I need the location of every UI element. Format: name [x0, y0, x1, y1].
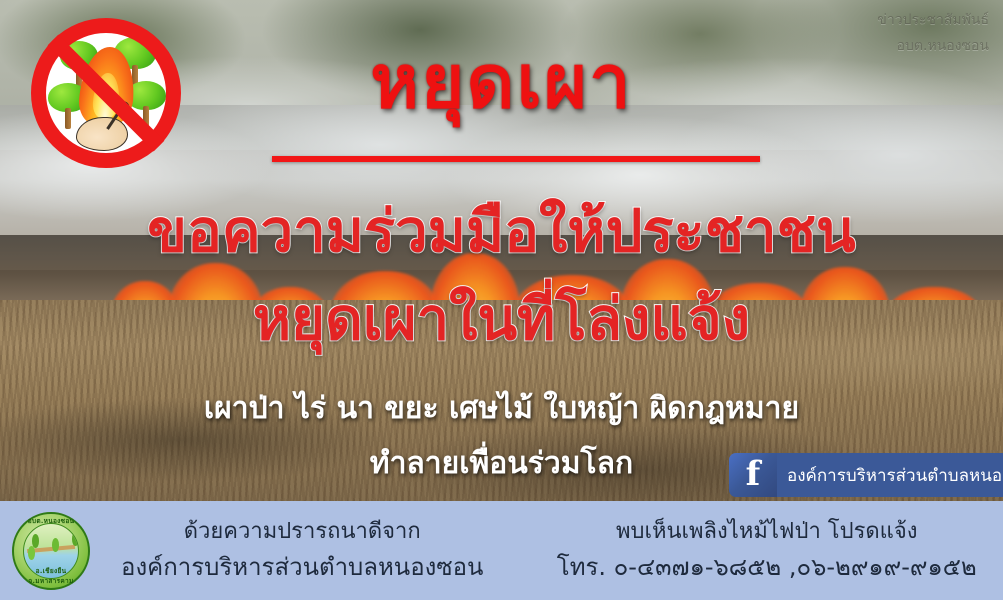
facebook-badge[interactable]: f องค์การบริหารส่วนตำบลหนองซอน — [729, 453, 1003, 497]
municipality-seal-icon: อบต.หนองซอน อ.เชียงยืน จ.มหาสารคาม — [12, 512, 90, 590]
footer-left-line-1: ด้วยความปรารถนาดีจาก — [90, 515, 515, 549]
divider — [272, 156, 760, 162]
announcement-poster: ข่าวประชาสัมพันธ์ อบต.หนองซอน หยุดเผา ขอ… — [0, 0, 1003, 600]
footer-left-block: ด้วยความปรารถนาดีจาก องค์การบริหารส่วนตำ… — [90, 515, 555, 586]
subtext-line-1: เผาป่า ไร่ นา ขยะ เศษไม้ ใบหญ้า ผิดกฎหมา… — [0, 385, 1003, 432]
facebook-page-name[interactable]: องค์การบริหารส่วนตำบลหนองซอน — [777, 453, 1003, 497]
facebook-icon-glyph: f — [729, 453, 777, 497]
facebook-icon[interactable]: f — [729, 453, 777, 497]
message-line-1: ขอความร่วมมือให้ประชาชน — [0, 184, 1003, 277]
seal-top-text: อบต.หนองซอน — [12, 516, 90, 526]
footer-phone-number: โทร. ๐-๔๓๗๑-๖๘๕๒ ,๐๖-๒๙๑๙-๙๑๕๒ — [555, 549, 980, 586]
footer-left-line-2: องค์การบริหารส่วนตำบลหนองซอน — [90, 549, 515, 586]
message-line-2: หยุดเผาในที่โล่งแจ้ง — [0, 272, 1003, 365]
footer-right-block: พบเห็นเพลิงไหม้ไฟป่า โปรดแจ้ง โทร. ๐-๔๓๗… — [555, 515, 1003, 586]
footer-right-line-1: พบเห็นเพลิงไหม้ไฟป่า โปรดแจ้ง — [555, 515, 980, 549]
footer-bar: อบต.หนองซอน อ.เชียงยืน จ.มหาสารคาม ด้วยค… — [0, 501, 1003, 600]
seal-bottom-text: อ.เชียงยืน จ.มหาสารคาม — [12, 566, 90, 586]
page-title: หยุดเผา — [0, 22, 1003, 140]
